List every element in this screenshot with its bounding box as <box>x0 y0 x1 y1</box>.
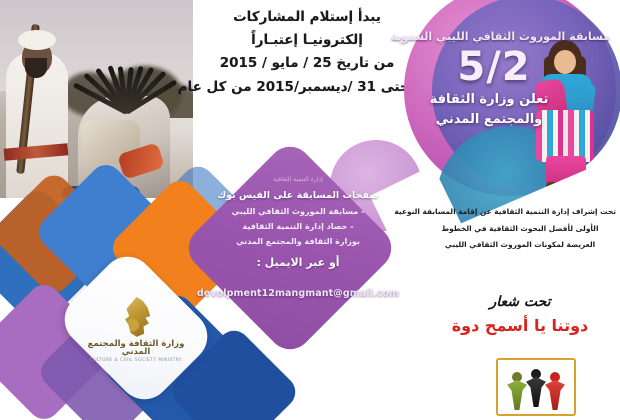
description-line-3: العريضة لمكونات الموروث الثقافي الليبي <box>424 237 616 254</box>
photo-rider-turban <box>18 30 56 50</box>
headline-line-3: من تاريخ 25 / مايو / 2015 <box>196 52 418 75</box>
contact-email[interactable]: devolpment12mangmant@gmail.com <box>186 288 410 299</box>
badge-announce-line-2: والمجتمع المدني <box>408 112 570 127</box>
figure-body <box>545 380 565 410</box>
description-block: تحت إشراف إدارة التنمية الثقافية عن إقام… <box>424 204 616 254</box>
figure-black-icon <box>526 369 546 413</box>
panel-item-1: - مسابقة الموروث الثقافي الليبي <box>186 207 410 217</box>
photo-horse-plume <box>84 36 172 112</box>
info-panel-text: إدارة التنمية الثقافية صفحات المسابقة عل… <box>186 176 410 269</box>
feather-icon <box>119 297 153 337</box>
photo-rider-beard <box>25 58 47 78</box>
ministry-logo: وزارة الثقافة والمجتمع المدني Culture & … <box>72 280 200 380</box>
figure-green-icon <box>507 372 527 410</box>
panel-heading: صفحات المسابقة على الفيس بوك <box>186 190 410 201</box>
headline-block: يبدأ إستلام المشاركات إلكترونيـا إعتبـار… <box>196 6 418 99</box>
panel-item-3: بوزارة الثقافة والمجتمع المدني <box>186 237 410 247</box>
headline-line-2: إلكترونيـا إعتبـاراً <box>196 29 418 52</box>
description-line-1: تحت إشراف إدارة التنمية الثقافية عن إقام… <box>424 204 616 221</box>
figure-body <box>507 380 527 410</box>
headline-line-4: وحتى 31 /ديسمبر/2015 من كل عام <box>196 76 418 99</box>
panel-item-2: - حصاد إدارة التنمية الثقافية <box>186 222 410 232</box>
panel-department-label: إدارة التنمية الثقافية <box>186 176 410 183</box>
ministry-name-english: Culture & Civil Society Ministry <box>90 358 182 363</box>
poster-canvas: يبدأ إستلام المشاركات إلكترونيـا إعتبـار… <box>0 0 620 420</box>
badge-title: مسابقة الموروث الثقافي الليبي السنوية <box>414 30 610 43</box>
figure-body <box>526 377 546 407</box>
headline-line-1: يبدأ إستلام المشاركات <box>196 6 418 29</box>
slogan-text: دوتنا يا أسمح دوة <box>424 316 616 335</box>
description-line-2: الأولى لأفضل البحوث الثقافية في الخطوط <box>424 221 616 238</box>
badge-number: 5/2 <box>414 44 574 90</box>
figure-red-icon <box>545 372 565 410</box>
panel-or-label: أو عبر الايميل : <box>186 256 410 269</box>
three-figures-logo <box>496 358 576 416</box>
badge-announce-line-1: تعلن وزارة الثقافة <box>408 92 570 107</box>
slogan-prefix: تحت شعار <box>424 294 616 310</box>
ministry-name-arabic: وزارة الثقافة والمجتمع المدني <box>72 340 200 357</box>
